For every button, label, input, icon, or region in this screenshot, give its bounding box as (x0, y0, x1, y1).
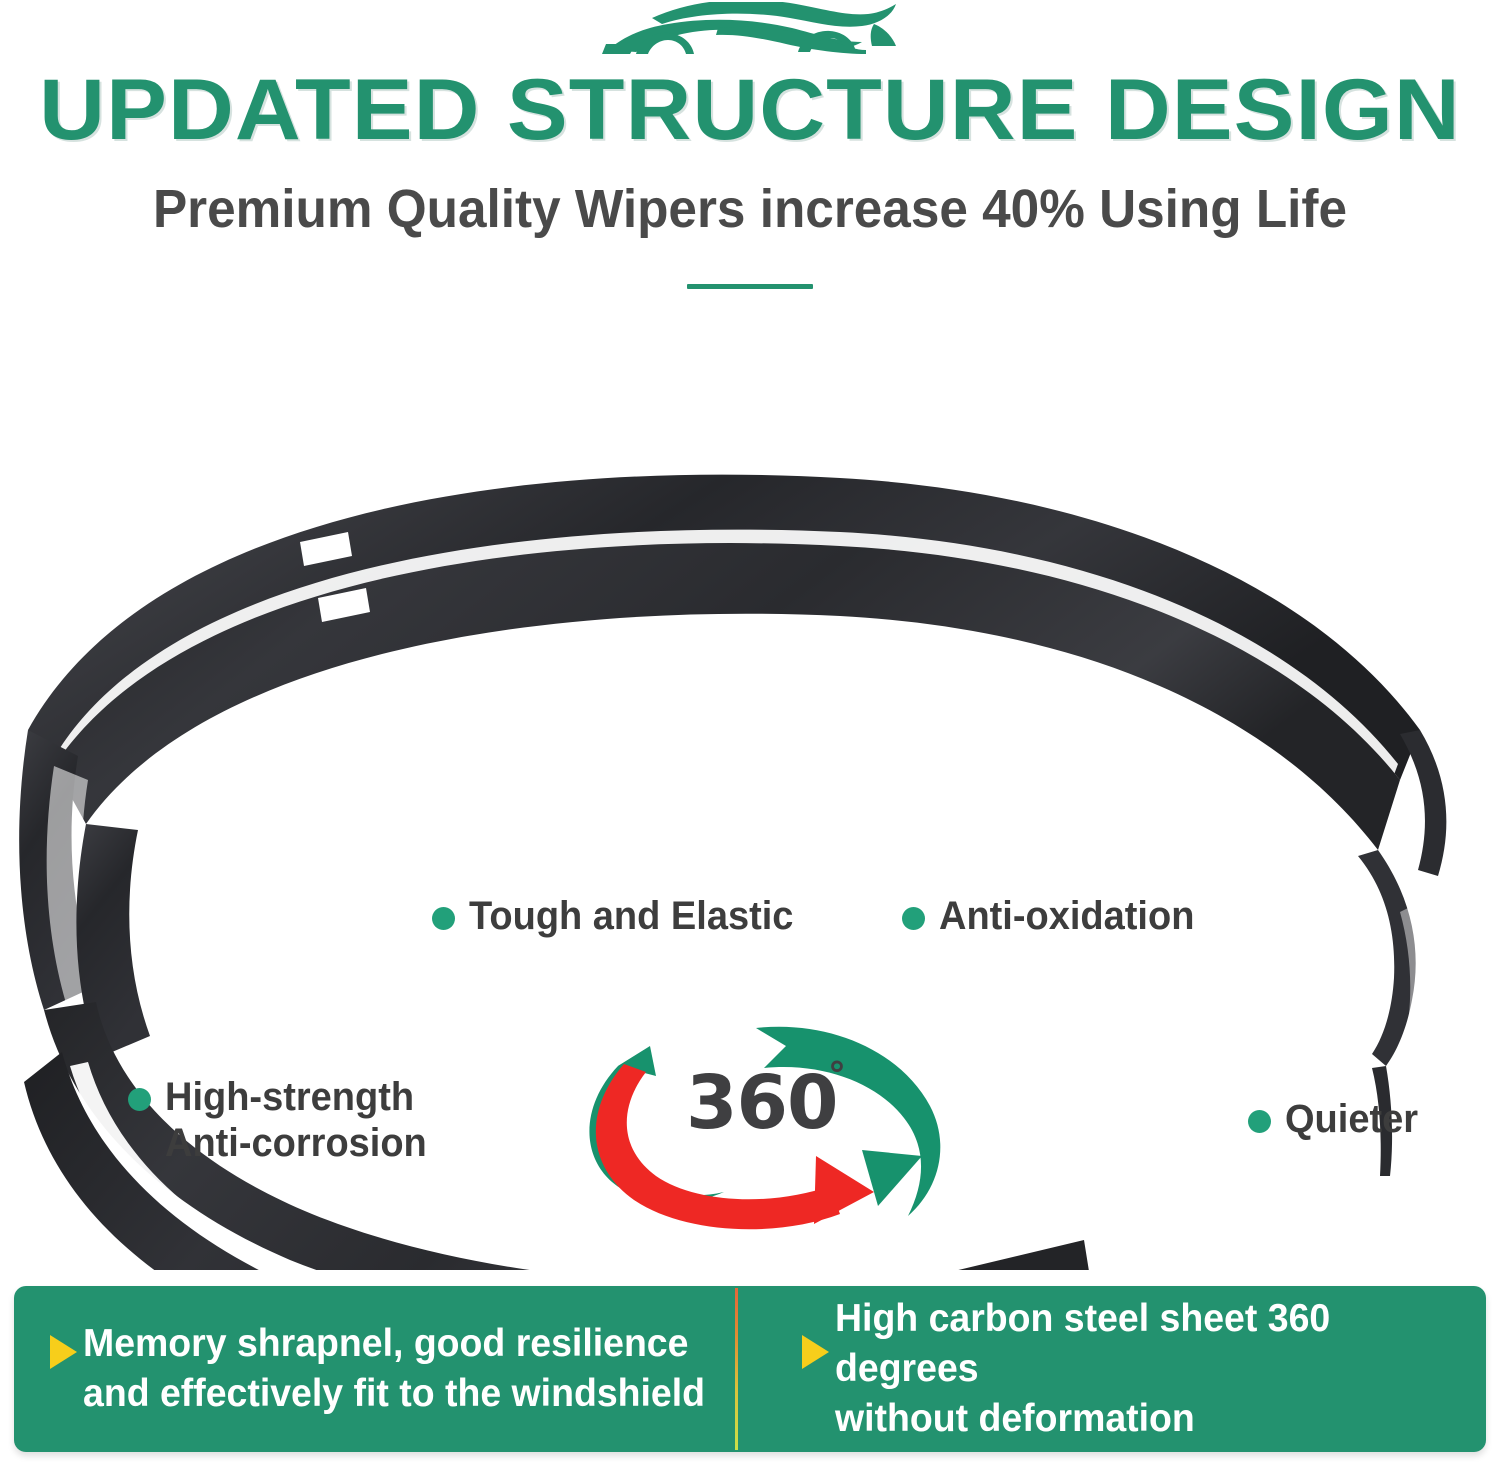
feature-tough-and-elastic: Tough and Elastic (432, 893, 811, 939)
title-divider-rule (687, 284, 813, 289)
bullet-dot-icon (128, 1088, 151, 1111)
badge-360-value: 360 (686, 1066, 837, 1140)
badge-green-arrow-head (862, 1150, 922, 1206)
bottom-feature-banner: Memory shrapnel, good resilience and eff… (14, 1286, 1486, 1452)
banner-item-high-carbon-steel: High carbon steel sheet 360 degrees with… (750, 1286, 1486, 1452)
banner-item-text: Memory shrapnel, good resilience and eff… (83, 1319, 705, 1419)
banner-divider (735, 1288, 738, 1450)
triangle-bullet-icon (50, 1335, 77, 1369)
feature-label: High-strength Anti-corrosion (165, 1074, 427, 1166)
page-subtitle: Premium Quality Wipers increase 40% Usin… (38, 175, 1463, 243)
badge-360-degree: 360 ° (578, 1010, 948, 1230)
bullet-dot-icon (902, 907, 925, 930)
car-silhouette-icon (600, 2, 900, 64)
header-section: UPDATED STRUCTURE DESIGN Premium Quality… (0, 0, 1500, 310)
badge-red-arrow-head (814, 1156, 874, 1224)
feature-label: Tough and Elastic (469, 893, 793, 939)
feature-anti-oxidation: Anti-oxidation (902, 893, 1208, 939)
bullet-dot-icon (1248, 1110, 1271, 1133)
bullet-dot-icon (432, 907, 455, 930)
feature-label: Anti-oxidation (939, 893, 1194, 939)
badge-degree-symbol: ° (828, 1058, 846, 1094)
feature-label: Quieter (1285, 1096, 1418, 1142)
page-title: UPDATED STRUCTURE DESIGN (0, 62, 1500, 158)
banner-item-memory-shrapnel: Memory shrapnel, good resilience and eff… (14, 1286, 750, 1452)
triangle-bullet-icon (802, 1335, 829, 1369)
feature-quieter: Quieter (1248, 1096, 1425, 1142)
feature-high-strength-anti-corrosion: High-strength Anti-corrosion (128, 1074, 441, 1166)
banner-item-text: High carbon steel sheet 360 degrees with… (835, 1294, 1460, 1444)
product-stage: Tough and Elastic Anti-oxidation High-st… (0, 310, 1500, 1270)
